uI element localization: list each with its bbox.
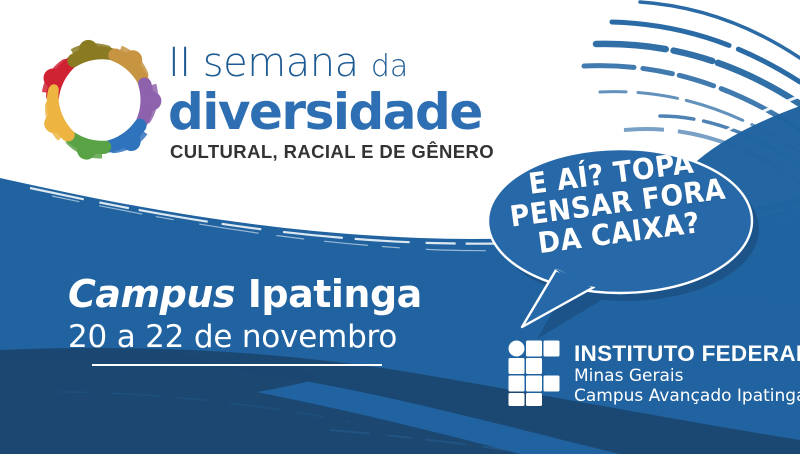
poster-canvas: II semana da diversidade CULTURAL, RACIA… — [0, 0, 800, 454]
institution-state: Minas Gerais — [574, 366, 800, 386]
event-subtitle: CULTURAL, RACIAL E DE GÊNERO — [170, 141, 488, 163]
instituto-federal-text: INSTITUTO FEDERAL Minas Gerais Campus Av… — [574, 341, 800, 406]
institution-name: INSTITUTO FEDERAL — [574, 341, 800, 366]
event-title-line2: diversidade — [168, 86, 488, 138]
instituto-federal-grid-icon — [508, 340, 560, 406]
event-dates: 20 a 22 de novembro — [68, 318, 428, 356]
diversity-people-circle-logo — [30, 28, 170, 173]
campus-info-block: Campus Ipatinga 20 a 22 de novembro — [68, 272, 428, 366]
event-title-main: II semana — [168, 40, 359, 86]
campus-word: Campus — [68, 272, 235, 316]
institution-campus: Campus Avançado Ipatinga — [574, 386, 800, 406]
event-title-da: da — [371, 49, 408, 84]
campus-city: Ipatinga — [248, 272, 422, 316]
instituto-federal-logo: INSTITUTO FEDERAL Minas Gerais Campus Av… — [508, 340, 800, 406]
divider-rule — [92, 364, 382, 366]
campus-title: Campus Ipatinga — [68, 272, 428, 316]
event-wordmark: II semana da diversidade CULTURAL, RACIA… — [168, 40, 488, 163]
speech-bubble — [470, 135, 770, 335]
